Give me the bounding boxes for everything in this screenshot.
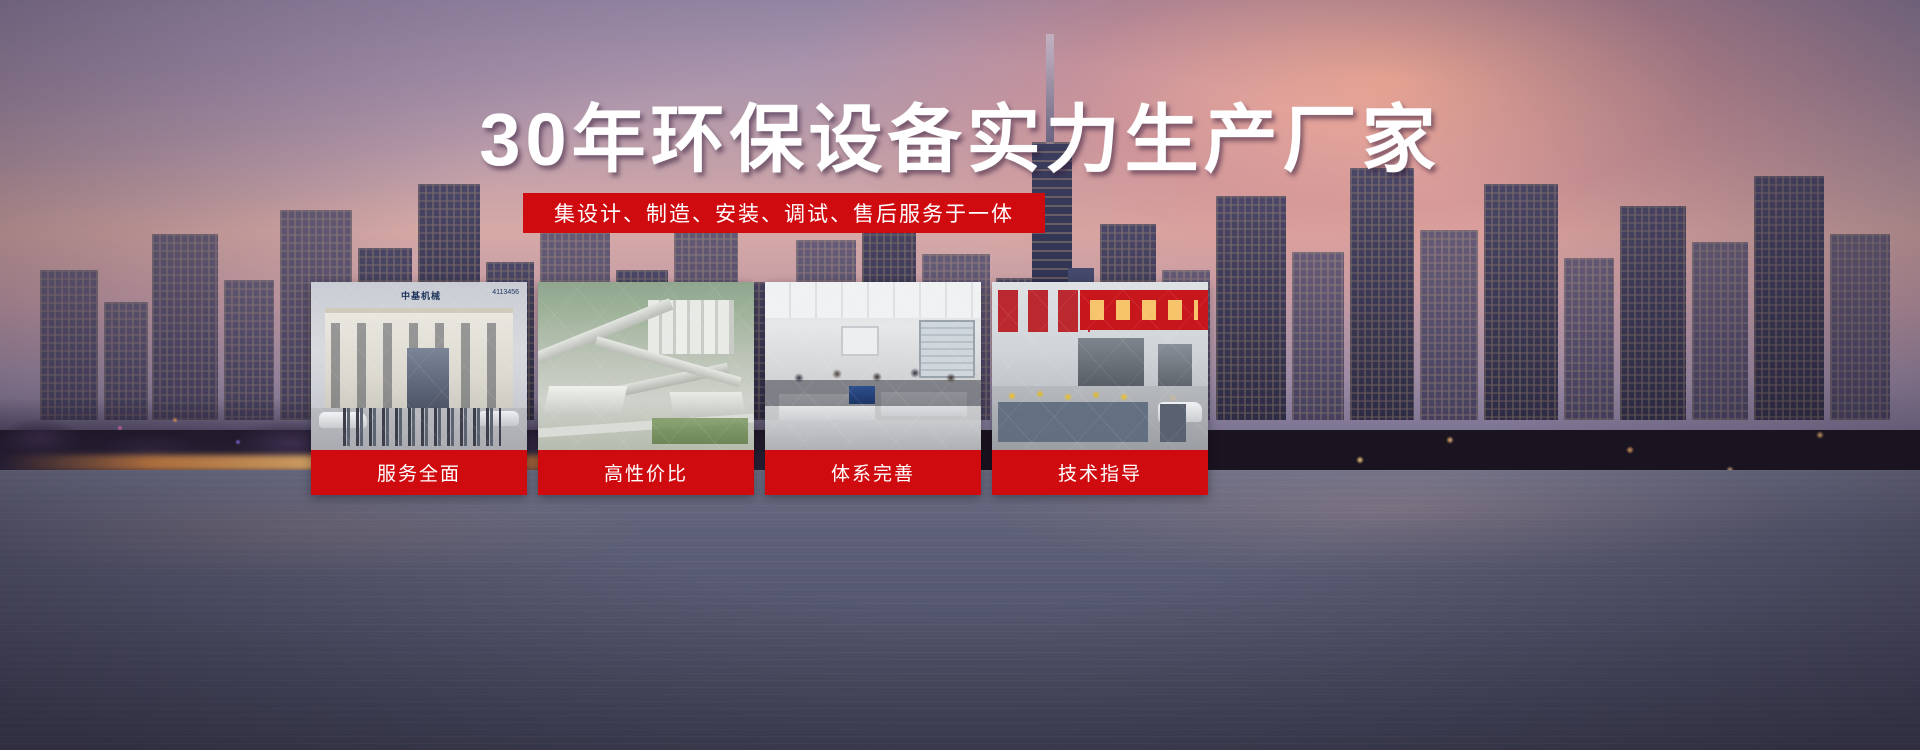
feature-card-value[interactable]: 高性价比 <box>538 282 754 495</box>
card-thumbnail <box>538 282 754 450</box>
instructor-person <box>1160 392 1186 442</box>
hero-banner: 30年环保设备实力生产厂家 集设计、制造、安装、调试、售后服务于一体 中基机械 … <box>0 0 1920 750</box>
page-title: 30年环保设备实力生产厂家 <box>0 103 1920 177</box>
office-floor <box>765 420 981 450</box>
card-caption: 服务全面 <box>311 450 527 495</box>
building <box>1830 234 1890 420</box>
card-thumbnail: 中基机械 4113456 <box>311 282 527 450</box>
green-area <box>652 418 748 444</box>
feature-card-system[interactable]: 体系完善 <box>765 282 981 495</box>
wall-frame <box>841 326 879 356</box>
wall-slogan-panels <box>998 290 1090 332</box>
workers-in-helmets <box>998 390 1148 442</box>
office-building-photo: 中基机械 4113456 <box>311 282 527 450</box>
ceiling-panels <box>765 282 981 318</box>
card-caption: 体系完善 <box>765 450 981 495</box>
company-signage: 中基机械 <box>371 288 471 302</box>
laptop-screen <box>849 386 875 404</box>
company-phone: 4113456 <box>492 289 519 296</box>
workshop-photo <box>992 282 1208 450</box>
subtitle-banner: 集设计、制造、安装、调试、售后服务于一体 <box>523 193 1045 233</box>
building <box>1564 258 1614 420</box>
feature-card-service[interactable]: 中基机械 4113456 服务全面 <box>311 282 527 495</box>
building <box>1754 176 1824 420</box>
building-entrance <box>407 348 449 412</box>
feature-card-row: 中基机械 4113456 服务全面 <box>311 282 1562 495</box>
card-caption: 技术指导 <box>992 450 1208 495</box>
card-thumbnail <box>765 282 981 450</box>
office-interior-photo <box>765 282 981 450</box>
workshop-door <box>1158 344 1192 390</box>
warehouse-shed <box>543 386 627 416</box>
building <box>1620 206 1686 420</box>
card-caption: 高性价比 <box>538 450 754 495</box>
card-thumbnail <box>992 282 1208 450</box>
subtitle-text: 集设计、制造、安装、调试、售后服务于一体 <box>554 198 1014 228</box>
feature-card-guidance[interactable]: 技术指导 <box>992 282 1208 495</box>
building <box>152 234 218 420</box>
staff-lineup <box>341 408 501 446</box>
workshop-banner <box>1080 290 1208 330</box>
factory-aerial-photo <box>538 282 754 450</box>
building <box>1692 242 1748 420</box>
river-water <box>0 470 1920 750</box>
workshop-door <box>1078 338 1144 390</box>
